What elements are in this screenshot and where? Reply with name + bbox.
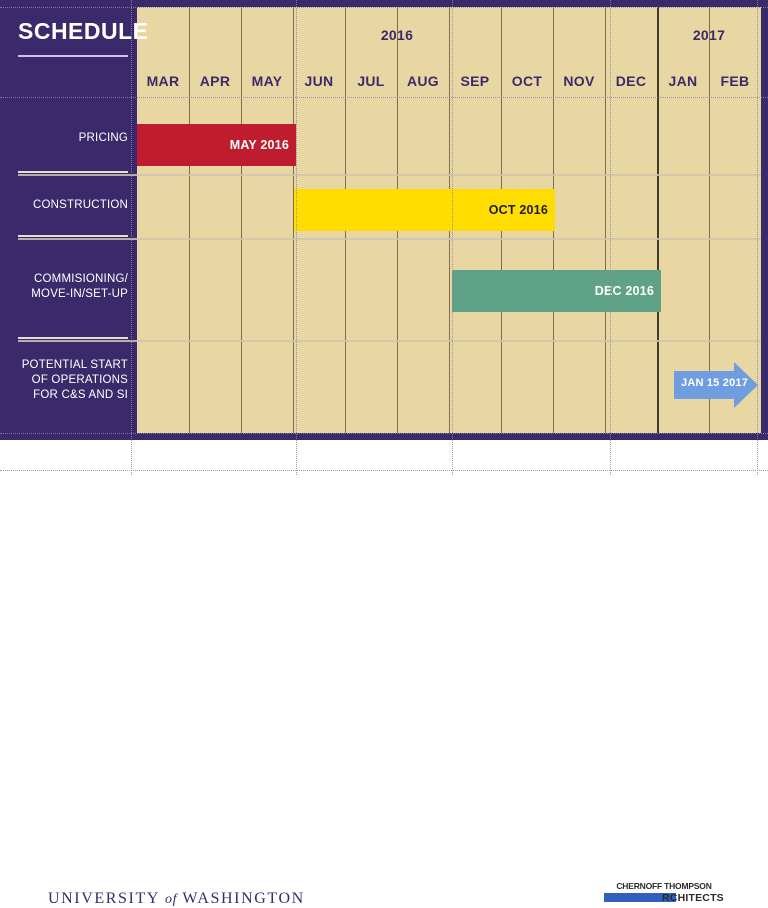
gantt-bar-label: OCT 2016: [489, 203, 548, 217]
row-label-line: COMMISIONING/: [0, 272, 128, 287]
architect-logo-bottom: RCHITECTS: [662, 892, 724, 904]
month-header-mar: MAR: [137, 62, 189, 100]
row-label-1: CONSTRUCTION: [0, 198, 128, 213]
guide-line-vertical: [452, 0, 453, 475]
row-label-line: MOVE-IN/SET-UP: [0, 287, 128, 302]
row-label-0: PRICING: [0, 131, 128, 146]
year-label: 2017: [657, 27, 761, 43]
row-label-3: POTENTIAL STARTOF OPERATIONSFOR C&S AND …: [0, 358, 128, 403]
gantt-bar-label: DEC 2016: [595, 284, 654, 298]
gantt-bar-0[interactable]: MAY 2016: [137, 124, 296, 166]
architect-logo-top: CHERNOFF THOMPSON: [600, 881, 728, 891]
row-separator: [18, 174, 761, 176]
gantt-bar-label: MAY 2016: [230, 138, 289, 152]
month-header-jul: JUL: [345, 62, 397, 100]
row-label-line: OF OPERATIONS: [0, 373, 128, 388]
row-separator: [18, 238, 761, 240]
row-separator: [18, 340, 761, 342]
month-header-aug: AUG: [397, 62, 449, 100]
page-title: SCHEDULE: [18, 18, 149, 45]
month-header-dec: DEC: [605, 62, 657, 100]
guide-line-horizontal: [0, 433, 768, 434]
month-header-row: MARAPRMAYJUNJULAUGSEPOCTNOVDECJANFEB: [137, 62, 761, 100]
row-separator-accent: [18, 337, 128, 339]
architect-logo: CHERNOFF THOMPSON RCHITECTS: [600, 881, 728, 907]
year-header-row: 20162017: [137, 7, 761, 59]
schedule-slide: 20162017 MARAPRMAYJUNJULAUGSEPOCTNOVDECJ…: [0, 0, 768, 475]
month-header-oct: OCT: [501, 62, 553, 100]
wordmark-of: of: [165, 892, 177, 907]
row-label-2: COMMISIONING/MOVE-IN/SET-UP: [0, 272, 128, 302]
guide-line-horizontal: [0, 470, 768, 471]
row-separator-accent: [18, 235, 128, 237]
guide-line-vertical: [296, 0, 297, 475]
guide-line-vertical: [610, 0, 611, 475]
row-label-line: CONSTRUCTION: [0, 198, 128, 213]
month-header-nov: NOV: [553, 62, 605, 100]
milestone-label: JAN 15 2017: [681, 377, 748, 389]
month-header-jan: JAN: [657, 62, 709, 100]
year-label: 2016: [137, 27, 657, 43]
guide-line-horizontal: [0, 97, 768, 98]
university-wordmark: UNIVERSITY of WASHINGTON: [48, 890, 305, 908]
guide-line-vertical: [757, 0, 758, 475]
month-header-feb: FEB: [709, 62, 761, 100]
month-header-jun: JUN: [293, 62, 345, 100]
row-separator-accent: [18, 171, 128, 173]
gantt-bar-2[interactable]: DEC 2016: [452, 270, 661, 312]
gantt-bar-1[interactable]: OCT 2016: [294, 189, 555, 231]
row-label-line: FOR C&S AND SI: [0, 388, 128, 403]
guide-line-vertical: [131, 0, 132, 475]
title-underline: [18, 55, 128, 57]
month-header-sep: SEP: [449, 62, 501, 100]
wordmark-washington: WASHINGTON: [182, 890, 304, 907]
row-label-line: PRICING: [0, 131, 128, 146]
wordmark-university: UNIVERSITY: [48, 890, 159, 907]
milestone-arrow[interactable]: JAN 15 2017: [674, 362, 758, 408]
month-header-apr: APR: [189, 62, 241, 100]
guide-line-horizontal: [0, 7, 768, 8]
month-header-may: MAY: [241, 62, 293, 100]
row-label-line: POTENTIAL START: [0, 358, 128, 373]
